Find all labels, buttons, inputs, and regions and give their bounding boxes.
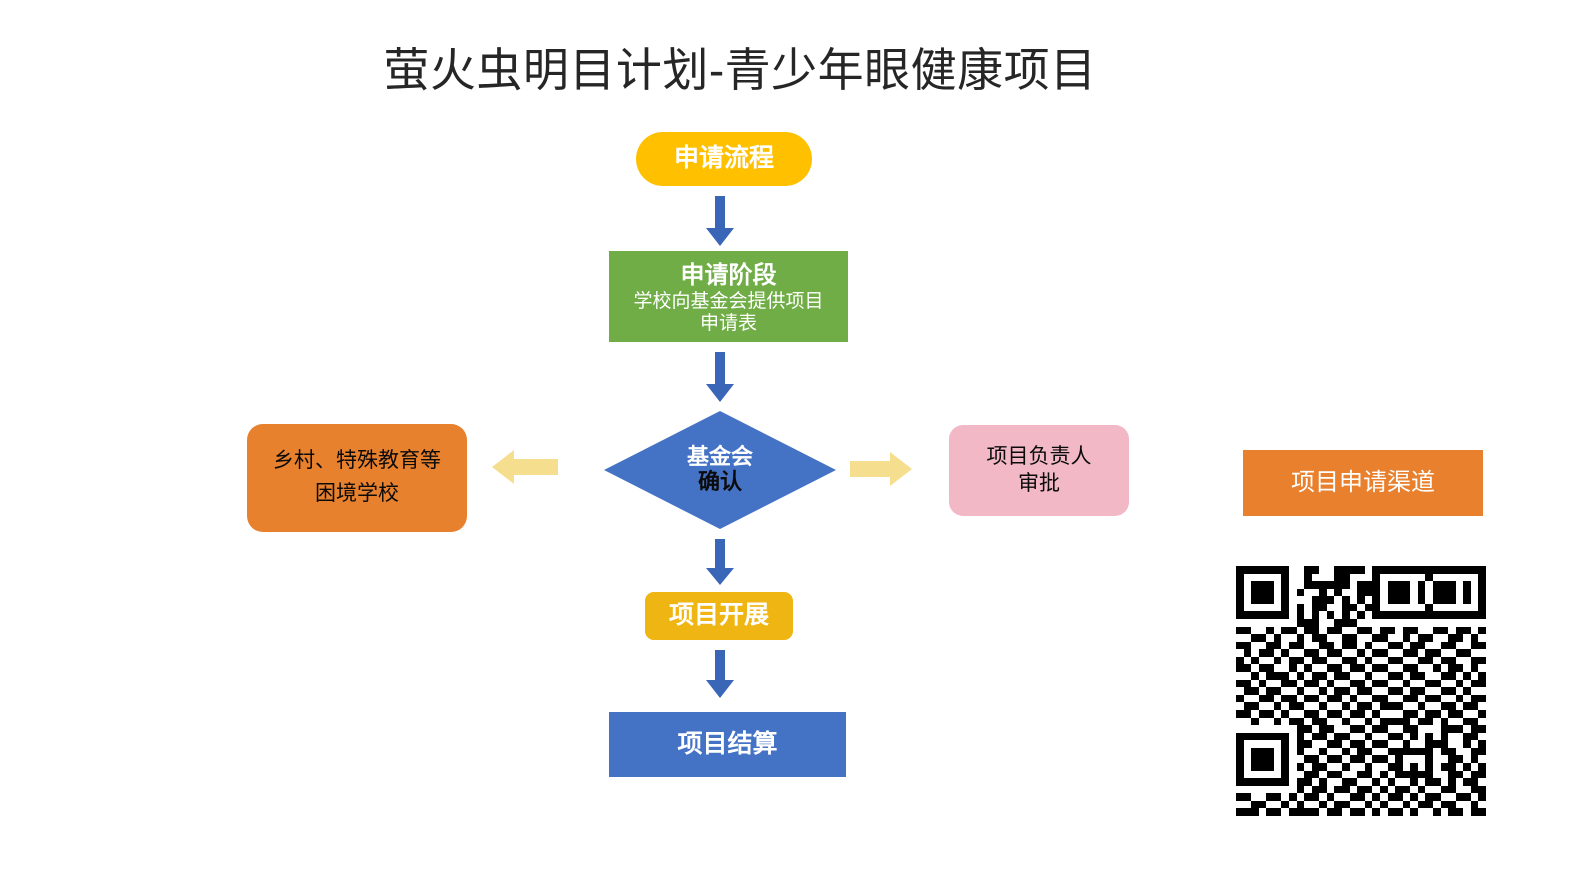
- arrow-execution-to-settlement: [704, 650, 736, 700]
- node-start-label: 申请流程: [674, 144, 774, 174]
- arrow-start-to-apply: [704, 196, 736, 248]
- node-apply-stage[interactable]: 申请阶段 学校向基金会提供项目 申请表: [609, 251, 848, 342]
- node-manager-approval-line2: 审批: [1018, 472, 1060, 497]
- node-apply-stage-detail-line1: 学校向基金会提供项目: [633, 291, 823, 313]
- node-start-application-process[interactable]: 申请流程: [636, 132, 812, 186]
- node-project-execution[interactable]: 项目开展: [645, 592, 793, 640]
- flowchart-canvas: 萤火虫明目计划-青少年眼健康项目 申请流程 申请阶段 学校向基金会提供项目 申请…: [0, 0, 1594, 885]
- node-apply-stage-detail-line2: 申请表: [700, 313, 757, 335]
- arrow-apply-to-confirm: [704, 352, 736, 404]
- node-manager-approval-line1: 项目负责人: [987, 445, 1092, 470]
- application-channel-label: 项目申请渠道: [1291, 469, 1435, 497]
- qr-code-application-channel[interactable]: [1236, 566, 1486, 816]
- arrow-confirm-to-approval: [850, 450, 912, 488]
- node-project-settlement[interactable]: 项目结算: [609, 712, 846, 777]
- node-application-channel-banner[interactable]: 项目申请渠道: [1243, 450, 1483, 516]
- arrow-confirm-to-schools: [492, 448, 560, 486]
- arrow-confirm-to-execution: [704, 539, 736, 587]
- node-foundation-confirm[interactable]: 基金会 确认: [604, 411, 836, 529]
- node-target-schools[interactable]: 乡村、特殊教育等 困境学校: [247, 424, 467, 532]
- node-foundation-confirm-line2: 确认: [698, 470, 742, 495]
- node-target-schools-line2: 困境学校: [315, 482, 399, 507]
- node-target-schools-line1: 乡村、特殊教育等: [273, 449, 441, 474]
- node-project-settlement-label: 项目结算: [677, 730, 777, 760]
- node-foundation-confirm-line1: 基金会: [687, 445, 753, 470]
- node-project-execution-label: 项目开展: [669, 601, 769, 631]
- node-apply-stage-heading: 申请阶段: [681, 262, 777, 290]
- page-title: 萤火虫明目计划-青少年眼健康项目: [0, 34, 1480, 100]
- node-manager-approval[interactable]: 项目负责人 审批: [949, 425, 1129, 516]
